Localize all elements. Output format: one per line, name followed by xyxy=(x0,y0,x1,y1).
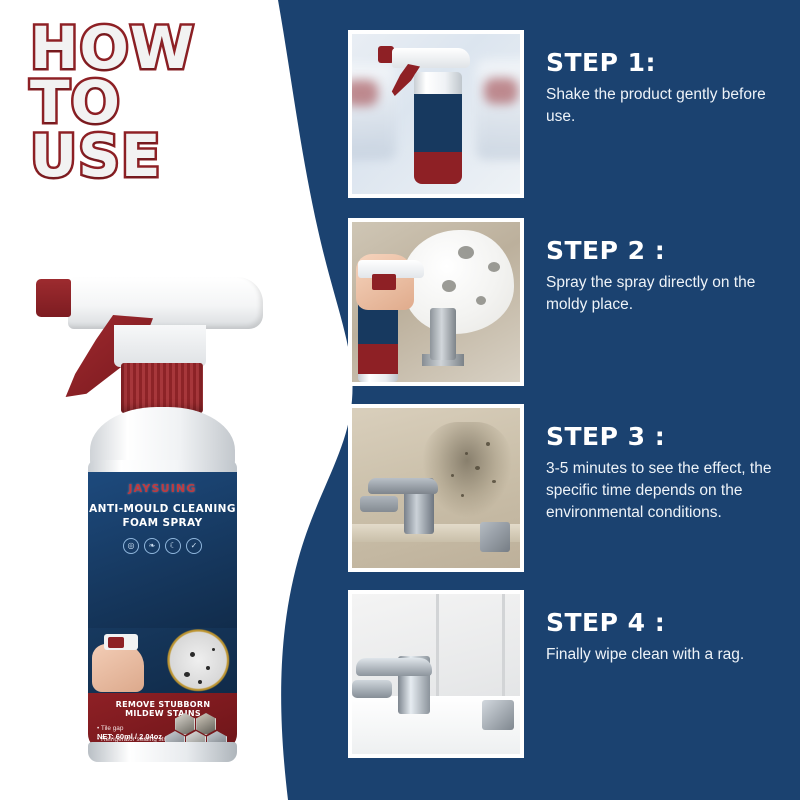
page-title: HOW TO USE xyxy=(30,22,270,184)
step-2-trigger xyxy=(372,274,396,290)
step-3-description: 3-5 minutes to see the effect, the speci… xyxy=(546,458,782,524)
step-1-bottle xyxy=(414,72,462,184)
step-1-title: STEP 1: xyxy=(546,48,782,77)
step-3-text: STEP 3 : 3-5 minutes to see the effect, … xyxy=(546,404,782,524)
step-3-knob xyxy=(480,522,510,552)
step-row-1: STEP 1: Shake the product gently before … xyxy=(348,30,800,208)
net-weight: NET: 60ml / 2.04oz xyxy=(97,732,162,741)
step-4-knob xyxy=(482,700,514,730)
steps-column: STEP 1: Shake the product gently before … xyxy=(348,0,800,800)
bottle-base xyxy=(88,742,237,762)
bottle-collar xyxy=(121,363,203,413)
label-hand xyxy=(92,644,144,692)
label-hand-sprayer-trigger xyxy=(108,637,124,648)
step-row-4: STEP 4 : Finally wipe clean with a rag. xyxy=(348,590,800,768)
left-product-panel: HOW TO USE JAYSUING ANTI-MOULD CLEANING … xyxy=(0,0,300,800)
step-3-title: STEP 3 : xyxy=(546,422,782,451)
moon-icon: ☾ xyxy=(165,538,181,554)
sprayer-nozzle-icon xyxy=(36,279,71,317)
step-4-title: STEP 4 : xyxy=(546,608,782,637)
page-title-line-3: USE xyxy=(30,130,270,184)
step-row-2: STEP 2 : Spray the spray directly on the… xyxy=(348,218,800,396)
step-4-text: STEP 4 : Finally wipe clean with a rag. xyxy=(546,590,782,666)
step-1-text: STEP 1: Shake the product gently before … xyxy=(546,30,782,128)
brand-name: JAYSUING xyxy=(88,482,237,495)
step-1-photo xyxy=(348,30,524,198)
step-4-handle xyxy=(352,680,392,698)
step-2-text: STEP 2 : Spray the spray directly on the… xyxy=(546,218,782,316)
step-4-description: Finally wipe clean with a rag. xyxy=(546,644,782,666)
bottle-label-blue: JAYSUING ANTI-MOULD CLEANING FOAM SPRAY … xyxy=(88,472,237,642)
step-2-title: STEP 2 : xyxy=(546,236,782,265)
step-4-photo xyxy=(348,590,524,758)
target-icon: ◎ xyxy=(123,538,139,554)
product-spray-bottle: JAYSUING ANTI-MOULD CLEANING FOAM SPRAY … xyxy=(18,255,288,770)
step-1-description: Shake the product gently before use. xyxy=(546,84,782,128)
shield-check-icon: ✓ xyxy=(186,538,202,554)
step-2-faucet xyxy=(430,308,456,360)
label-foam-photo xyxy=(88,628,237,698)
step-row-3: STEP 3 : 3-5 minutes to see the effect, … xyxy=(348,404,800,582)
step-3-photo xyxy=(348,404,524,572)
feature-badges: ◎ ❧ ☾ ✓ xyxy=(88,538,237,554)
product-name-line-1: ANTI-MOULD CLEANING xyxy=(88,502,237,516)
bottle-body: JAYSUING ANTI-MOULD CLEANING FOAM SPRAY … xyxy=(88,460,237,750)
sprayer-neck xyxy=(114,325,206,367)
step-3-spout xyxy=(368,478,438,494)
step-3-mold-patch xyxy=(422,422,512,518)
step-2-description: Spray the spray directly on the moldy pl… xyxy=(546,272,782,316)
step-4-spout xyxy=(356,658,432,676)
leaf-icon: ❧ xyxy=(144,538,160,554)
sprayer-body xyxy=(68,277,263,329)
step-1-sprayer-head xyxy=(392,48,470,68)
step-3-handle xyxy=(360,496,398,512)
step-2-photo xyxy=(348,218,524,386)
product-name: ANTI-MOULD CLEANING FOAM SPRAY xyxy=(88,502,237,530)
step-2-foam xyxy=(402,230,514,334)
product-name-line-2: FOAM SPRAY xyxy=(88,516,237,530)
